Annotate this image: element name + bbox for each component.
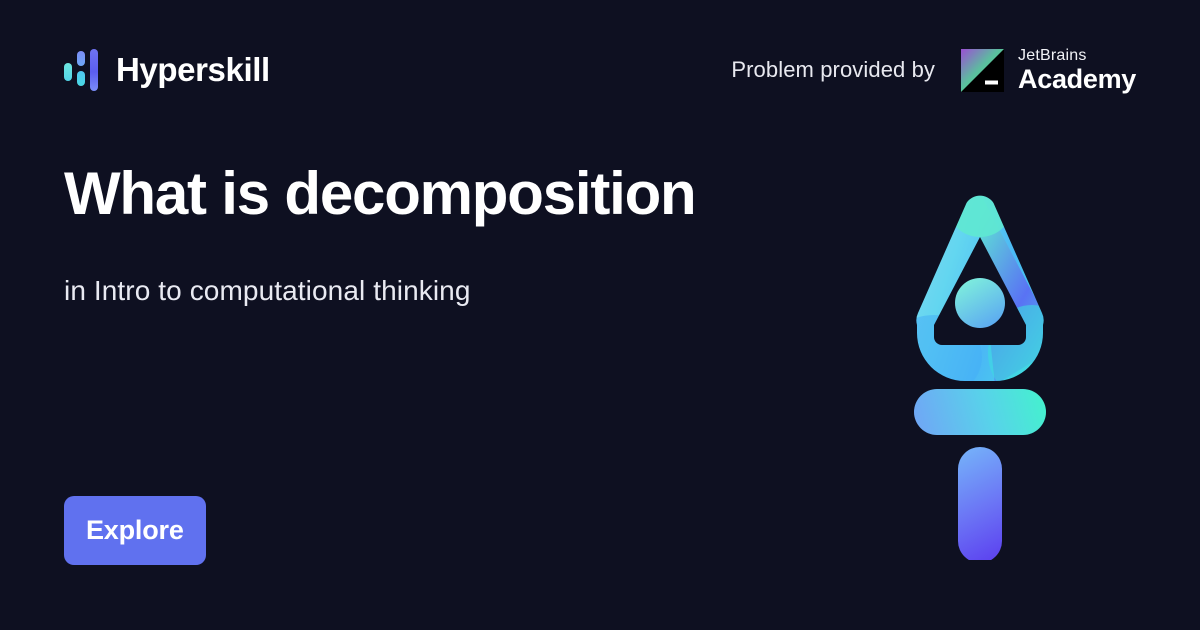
jetbrains-academy-logo[interactable]: JetBrains Academy xyxy=(961,48,1136,93)
hyperskill-brand[interactable]: Hyperskill xyxy=(64,49,270,91)
hyperskill-bar-left xyxy=(64,63,72,81)
horizontal-pill-shape xyxy=(914,389,1046,435)
brand-name: Hyperskill xyxy=(116,51,270,89)
provided-by-block: Problem provided by xyxy=(731,48,1136,93)
vertical-pill-shape xyxy=(958,447,1002,560)
provided-by-label: Problem provided by xyxy=(731,57,935,83)
jetbrains-academy-wordmark: JetBrains Academy xyxy=(1018,48,1136,93)
main-content: What is decomposition in Intro to comput… xyxy=(64,160,844,308)
page-title: What is decomposition xyxy=(64,160,844,227)
explore-button[interactable]: Explore xyxy=(64,496,206,565)
academy-name: Academy xyxy=(1018,66,1136,93)
hyperskill-bar-right xyxy=(90,49,98,91)
hyperskill-bar-mid-top xyxy=(77,51,85,66)
og-card: Hyperskill Problem provided by xyxy=(0,0,1200,630)
jetbrains-square-icon xyxy=(961,49,1004,92)
hyperskill-torch-emblem xyxy=(900,185,1060,560)
header: Hyperskill Problem provided by xyxy=(0,0,1200,140)
inner-circle-shape xyxy=(955,278,1005,328)
hyperskill-bars-icon xyxy=(64,49,100,91)
jetbrains-name: JetBrains xyxy=(1018,48,1136,64)
page-subtitle: in Intro to computational thinking xyxy=(64,274,844,308)
hyperskill-bar-mid-bottom xyxy=(77,71,85,86)
